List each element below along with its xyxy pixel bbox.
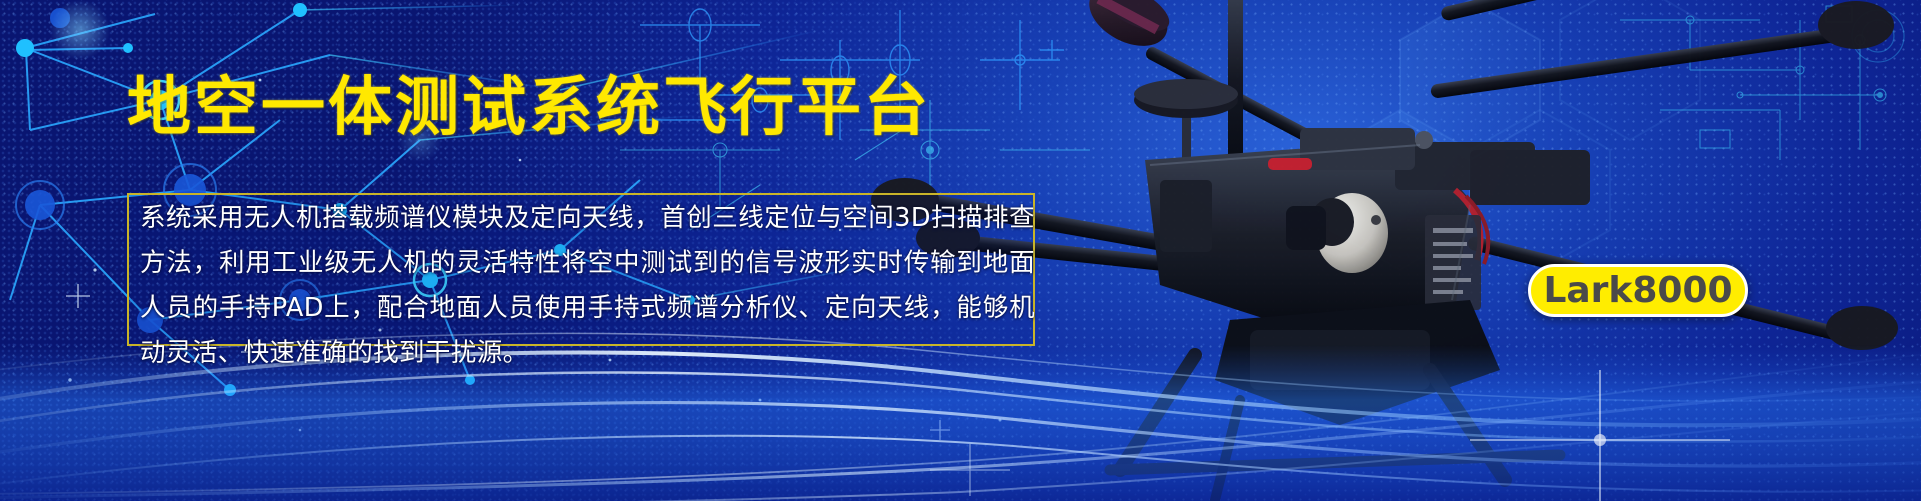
product-badge: Lark8000 (1528, 264, 1748, 317)
page-title: 地空一体测试系统飞行平台 (127, 76, 931, 140)
description-text: 系统采用无人机搭载频谱仪模块及定向天线，首创三线定位与空间3D扫描排查方法，利用… (140, 196, 1035, 376)
product-badge-label: Lark8000 (1543, 273, 1732, 309)
promotional-banner: 地空一体测试系统飞行平台 系统采用无人机搭载频谱仪模块及定向天线，首创三线定位与… (0, 0, 1921, 501)
